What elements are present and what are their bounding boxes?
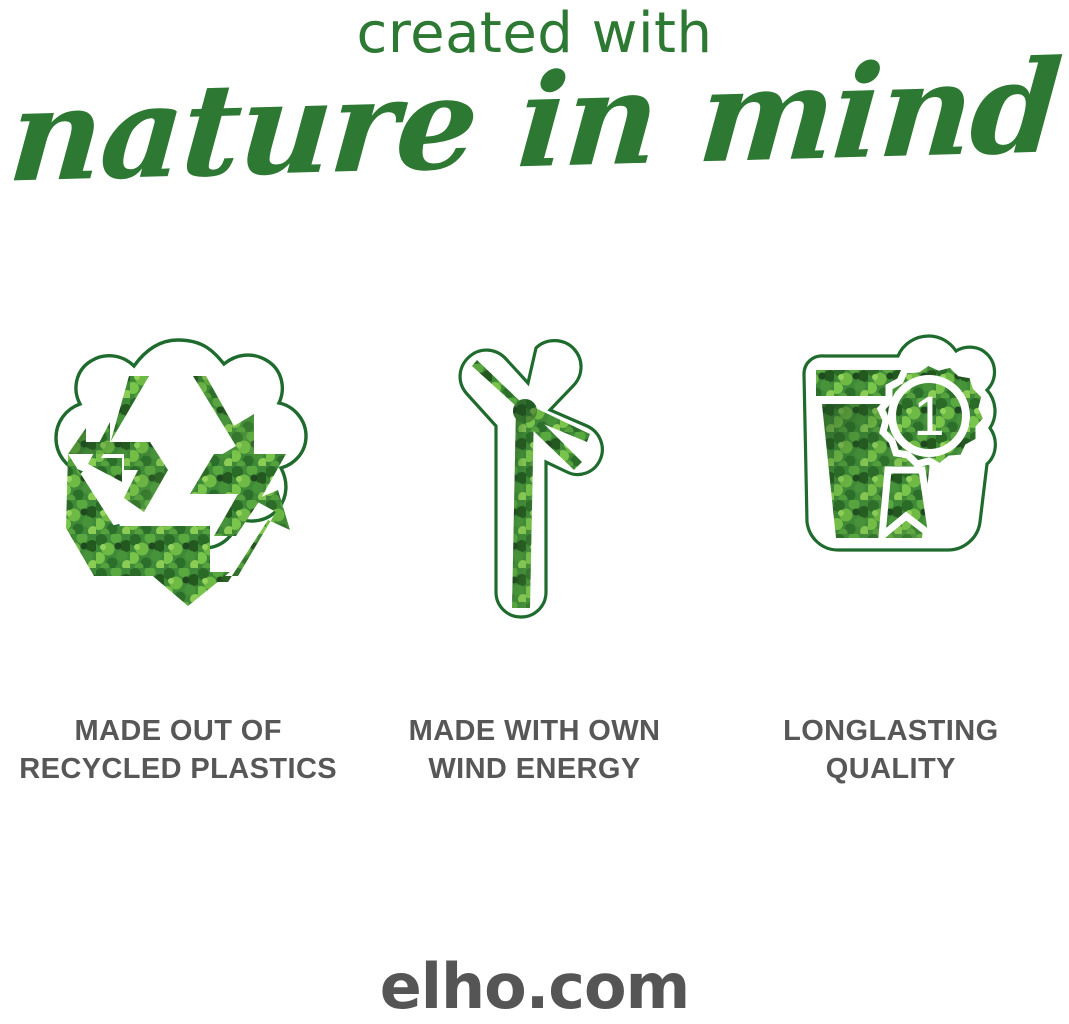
feature-item-longlasting-quality: 1 xyxy=(713,330,1069,650)
caption-longlasting-quality: LONGLASTING QUALITY xyxy=(713,712,1069,789)
caption-line-1: LONGLASTING xyxy=(713,712,1069,750)
award-badge-number: 1 xyxy=(913,384,944,447)
flowerpot-award-icon: 1 xyxy=(766,330,1016,580)
caption-line-2: RECYCLED PLASTICS xyxy=(0,750,356,788)
headline-block: created with nature in mind xyxy=(0,0,1069,215)
elho-website-logo[interactable]: elho.com xyxy=(380,956,690,1018)
feature-icon-row: 1 xyxy=(0,330,1069,650)
feature-item-wind-energy xyxy=(356,330,712,650)
headline-line-2-script: nature in mind xyxy=(0,43,1069,201)
caption-line-2: WIND ENERGY xyxy=(356,750,712,788)
caption-line-1: MADE WITH OWN xyxy=(356,712,712,750)
caption-wind-energy: MADE WITH OWN WIND ENERGY xyxy=(356,712,712,789)
recycle-icon xyxy=(28,330,328,630)
wind-turbine-icon xyxy=(424,330,644,630)
caption-recycled-plastics: MADE OUT OF RECYCLED PLASTICS xyxy=(0,712,356,789)
feature-caption-row: MADE OUT OF RECYCLED PLASTICS MADE WITH … xyxy=(0,712,1069,789)
feature-item-recycled-plastics xyxy=(0,330,356,650)
footer: elho.com xyxy=(0,956,1069,1018)
caption-line-2: QUALITY xyxy=(713,750,1069,788)
caption-line-1: MADE OUT OF xyxy=(0,712,356,750)
